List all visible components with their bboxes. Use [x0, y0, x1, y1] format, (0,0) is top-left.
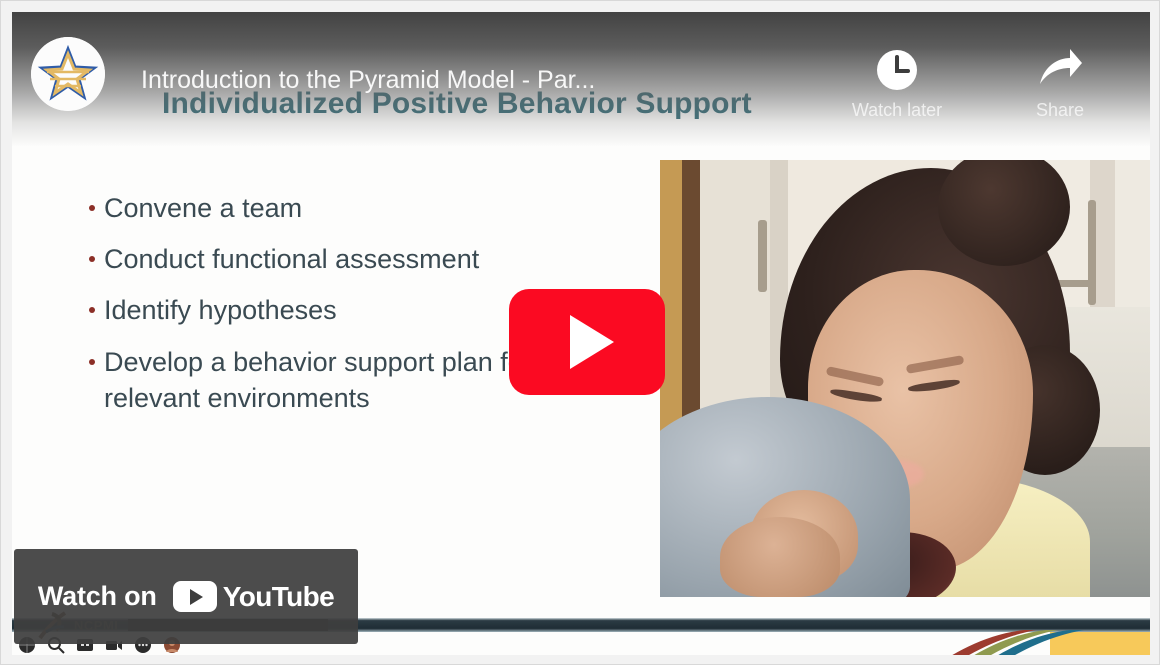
bullet-dot-icon — [89, 359, 95, 365]
slide-photo — [660, 160, 1150, 597]
play-button[interactable] — [509, 289, 665, 395]
play-triangle-icon — [570, 315, 614, 369]
bullet-text: Convene a team — [104, 190, 302, 226]
adult-hand — [720, 517, 840, 597]
footer-swoosh-decoration — [932, 624, 1150, 655]
video-surface[interactable]: Individualized Positive Behavior Support… — [12, 12, 1150, 655]
bullet-dot-icon — [89, 205, 95, 211]
youtube-brand-label: YouTube — [223, 581, 334, 613]
clock-icon — [837, 46, 957, 96]
list-item: Conduct functional assessment — [89, 241, 649, 277]
share-label: Share — [1036, 100, 1084, 120]
star-logo-icon — [31, 37, 105, 111]
youtube-play-icon — [173, 581, 217, 612]
bullet-text: Conduct functional assessment — [104, 241, 479, 277]
cabinet-handle — [1088, 200, 1096, 305]
screenshot-root: Individualized Positive Behavior Support… — [0, 0, 1160, 665]
youtube-wordmark: YouTube — [173, 581, 334, 613]
watch-on-youtube-button[interactable]: Watch on YouTube — [14, 549, 358, 644]
bullet-dot-icon — [89, 307, 95, 313]
video-title[interactable]: Introduction to the Pyramid Model - Par.… — [141, 67, 595, 95]
bullet-dot-icon — [89, 256, 95, 262]
share-button[interactable]: Share — [1000, 46, 1120, 121]
share-arrow-icon — [1000, 46, 1120, 96]
watch-on-label: Watch on — [38, 581, 157, 612]
cabinet-handle — [758, 220, 767, 292]
avatar[interactable] — [31, 37, 105, 111]
video-player-frame: Individualized Positive Behavior Support… — [0, 0, 1160, 665]
list-item: Convene a team — [89, 190, 649, 226]
watch-later-label: Watch later — [852, 100, 942, 120]
watch-later-button[interactable]: Watch later — [837, 46, 957, 121]
bullet-text: Identify hypotheses — [104, 292, 337, 328]
swoosh-svg — [932, 624, 1150, 655]
